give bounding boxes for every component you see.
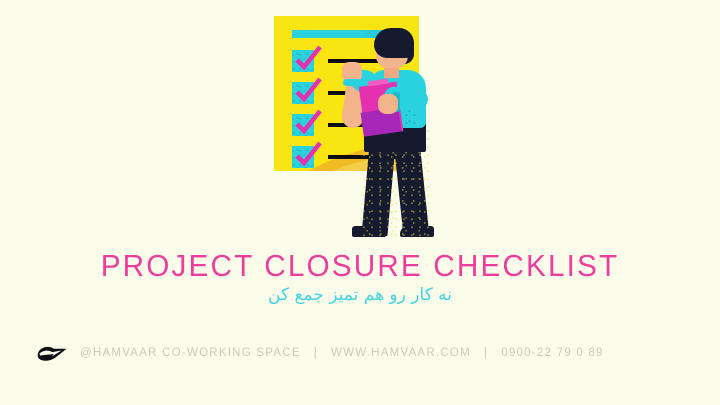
checkmark-4-icon (293, 140, 323, 170)
page-subtitle: نه کار رو هم تمیز جمع کن (0, 285, 720, 305)
person-figure (348, 22, 458, 244)
footer-handle: @HAMVAAR CO-WORKING SPACE (80, 347, 301, 359)
page-title: PROJECT CLOSURE CHECKLIST (14, 248, 705, 284)
checkmark-1-icon (293, 44, 323, 74)
checkmark-2-icon (293, 76, 323, 106)
hair (374, 28, 414, 58)
poster-canvas: PROJECT CLOSURE CHECKLIST نه کار رو هم ت… (0, 0, 720, 405)
footer: @HAMVAAR CO-WORKING SPACE | WWW.HAMVAAR.… (36, 340, 604, 366)
footer-phone: 0900-22 79 0 89 (501, 347, 604, 359)
raised-arm-cuff (343, 79, 362, 86)
footer-website[interactable]: WWW.HAMVAAR.COM (331, 347, 471, 359)
footer-separator-2: | (481, 347, 491, 359)
woman-with-checklist-illustration (260, 8, 480, 243)
bird-arrow-logo-icon (36, 341, 70, 365)
forward-hand (378, 94, 398, 114)
left-shoe (352, 226, 386, 237)
right-shoe (400, 226, 434, 237)
checkmark-3-icon (293, 108, 323, 138)
footer-separator-1: | (311, 347, 321, 359)
